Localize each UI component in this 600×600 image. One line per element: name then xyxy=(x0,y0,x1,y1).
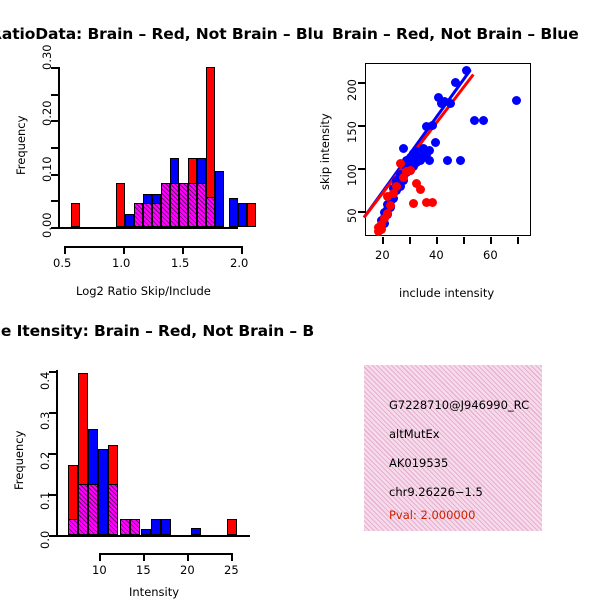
intensity-xtick-3: 25 xyxy=(224,563,239,577)
bar-ratio-m7 xyxy=(197,183,206,227)
bar-int-m5 xyxy=(130,519,140,535)
scatter-xtick-mark-2 xyxy=(436,237,438,244)
scatter-point-not-brain xyxy=(399,144,408,153)
scatter-xtick-0: 20 xyxy=(375,248,390,262)
intensity-xtick-0: 10 xyxy=(92,563,107,577)
bar-ratio-m0 xyxy=(134,203,143,227)
scatter-point-brain xyxy=(409,199,418,208)
intensity-xaxis-line xyxy=(99,553,233,555)
scatter-point-not-brain xyxy=(431,138,440,147)
ratio-ytick-1: 0.10 xyxy=(40,156,54,182)
info-line-pval: Pval: 2.000000 xyxy=(389,508,475,522)
ratio-histogram-ylabel: Frequency xyxy=(14,116,28,175)
intensity-ytick-mark-3 xyxy=(49,412,57,414)
scatter-point-not-brain xyxy=(446,99,455,108)
bar-ratio-m6 xyxy=(188,183,197,227)
intensity-histogram-title: ne Itensity: Brain – Red, Not Brain – B xyxy=(0,322,314,340)
scatter-point-not-brain xyxy=(456,156,465,165)
ratio-ytick-mark-2 xyxy=(51,120,59,122)
intensity-ytick-0: 0.0 xyxy=(38,531,52,549)
intensity-ytick-mark-1 xyxy=(49,494,57,496)
annotation-info-box: G7228710@J946990_RC altMutEx AK019535 ch… xyxy=(364,365,542,531)
bar-int-b1 xyxy=(98,449,108,535)
bar-int-m3 xyxy=(108,484,118,535)
scatter-ylabel: skip intensity xyxy=(318,113,332,190)
bar-int-b2 xyxy=(141,529,151,535)
scatter-point-not-brain xyxy=(425,156,434,165)
intensity-histogram-ylabel: Frequency xyxy=(12,431,26,490)
ratio-ytick-0: 0.00 xyxy=(40,212,54,238)
intensity-xtick-mark-1 xyxy=(143,553,145,561)
ratio-xaxis-line xyxy=(64,246,243,248)
bar-ratio-m5 xyxy=(179,183,188,227)
bar-ratio-m8 xyxy=(206,197,215,227)
ratio-histogram-title: RatioData: Brain – Red, Not Brain – Blu xyxy=(0,25,324,43)
bar-ratio-b5 xyxy=(215,171,224,227)
ratio-xtick-1: 1.0 xyxy=(112,256,130,270)
ratio-ytick-mark-h2 xyxy=(51,94,59,96)
ratio-histogram-xlabel: Log2 Ratio Skip/Include xyxy=(76,284,211,298)
intensity-ytick-mark-2 xyxy=(49,453,57,455)
bar-int-r3 xyxy=(227,519,237,535)
scatter-ytick-mark-3 xyxy=(358,82,365,84)
scatter-point-not-brain xyxy=(479,116,488,125)
scatter-ytick-mark-1 xyxy=(358,168,365,170)
ratio-xtick-2: 1.5 xyxy=(171,256,189,270)
bar-ratio-m3 xyxy=(161,183,170,227)
bar-ratio-b0 xyxy=(125,214,134,227)
bar-ratio-m4 xyxy=(170,183,179,227)
scatter-point-not-brain xyxy=(462,66,471,75)
scatter-point-not-brain xyxy=(512,96,521,105)
ratio-ytick-mark-3 xyxy=(51,67,59,69)
intensity-baseline xyxy=(56,535,250,537)
intensity-ytick-4: 0.4 xyxy=(38,372,52,390)
scatter-point-brain xyxy=(392,182,401,191)
ratio-xtick-3: 2.0 xyxy=(230,256,248,270)
scatter-point-not-brain xyxy=(470,116,479,125)
ratio-ytick-mark-h0 xyxy=(51,200,59,202)
ratio-xtick-mark-0 xyxy=(64,246,66,254)
scatter-xtick-mark-4 xyxy=(490,237,492,244)
bar-int-m0 xyxy=(68,519,78,535)
scatter-xlabel: include intensity xyxy=(399,286,494,300)
scatter-point-not-brain xyxy=(428,121,437,130)
scatter-point-brain xyxy=(416,185,425,194)
scatter-plot-area xyxy=(365,63,531,236)
intensity-xtick-mark-0 xyxy=(99,553,101,561)
scatter-point-not-brain xyxy=(425,146,434,155)
scatter-xtick-1: 40 xyxy=(429,248,444,262)
bar-int-b3 xyxy=(151,519,161,535)
scatter-title: Brain – Red, Not Brain – Blue xyxy=(332,25,579,43)
bar-ratio-r0 xyxy=(71,203,80,227)
ratio-xtick-mark-2 xyxy=(182,246,184,254)
scatter-point-not-brain xyxy=(443,156,452,165)
bar-ratio-b6 xyxy=(229,198,238,227)
scatter-xtick-mark-1 xyxy=(409,237,411,244)
info-line-accession: AK019535 xyxy=(389,456,448,470)
bar-ratio-m2 xyxy=(152,203,161,227)
scatter-ytick-1: 100 xyxy=(345,164,359,186)
bar-ratio-r4 xyxy=(247,203,256,227)
bar-int-m4 xyxy=(120,519,130,535)
ratio-baseline xyxy=(58,227,238,229)
ratio-ytick-mark-h1 xyxy=(51,147,59,149)
scatter-point-brain xyxy=(386,201,395,210)
intensity-histogram-xlabel: Intensity xyxy=(129,585,179,599)
bar-int-m1 xyxy=(78,484,88,535)
intensity-ytick-mark-4 xyxy=(49,371,57,373)
scatter-ytick-2: 150 xyxy=(345,121,359,143)
info-line-locus: chr9.26226−1.5 xyxy=(389,485,483,499)
bar-int-b5 xyxy=(191,528,201,535)
ratio-xtick-mark-3 xyxy=(241,246,243,254)
ratio-xtick-0: 0.5 xyxy=(53,256,71,270)
bar-int-b4 xyxy=(161,519,171,535)
scatter-point-brain xyxy=(428,198,437,207)
scatter-xtick-mark-3 xyxy=(463,237,465,244)
info-line-event-type: altMutEx xyxy=(389,427,440,441)
intensity-xtick-2: 20 xyxy=(180,563,195,577)
scatter-ytick-0: 50 xyxy=(345,208,359,223)
intensity-xtick-1: 15 xyxy=(136,563,151,577)
scatter-point-not-brain xyxy=(451,78,460,87)
bar-int-m2 xyxy=(88,484,98,535)
intensity-ytick-3: 0.3 xyxy=(38,412,52,430)
bar-ratio-m1 xyxy=(143,203,152,227)
scatter-point-brain xyxy=(406,166,415,175)
bar-ratio-b7 xyxy=(238,203,247,227)
ratio-ytick-mark-1 xyxy=(51,174,59,176)
ratio-xtick-mark-1 xyxy=(123,246,125,254)
scatter-xtick-2: 60 xyxy=(483,248,498,262)
scatter-xtick-mark-5 xyxy=(517,237,519,244)
scatter-ytick-mark-2 xyxy=(358,125,365,127)
intensity-xtick-mark-3 xyxy=(231,553,233,561)
scatter-xtick-mark-0 xyxy=(382,237,384,244)
scatter-ytick-3: 200 xyxy=(345,79,359,101)
info-line-probeset: G7228710@J946990_RC xyxy=(389,398,529,412)
bar-ratio-r1 xyxy=(116,183,125,227)
intensity-xtick-mark-2 xyxy=(187,553,189,561)
scatter-point-brain xyxy=(383,209,392,218)
